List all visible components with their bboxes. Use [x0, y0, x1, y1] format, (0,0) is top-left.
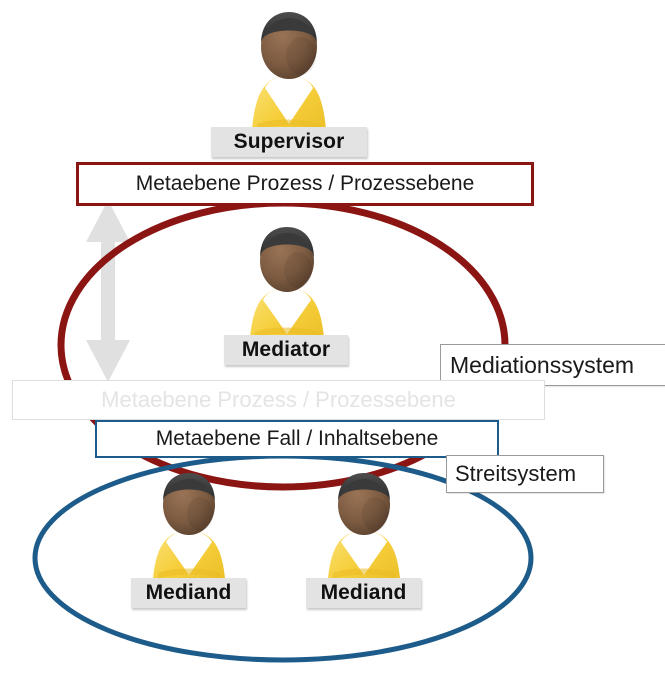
- avatar-supervisor: [243, 6, 335, 146]
- nameplate-mediand-1: Mediand: [131, 578, 246, 608]
- sysbox-dispute-system: Streitsystem: [446, 455, 604, 493]
- double-arrow-vertical-icon: [86, 200, 130, 382]
- nameplate-mediator-label: Mediator: [242, 338, 330, 362]
- nameplate-supervisor-label: Supervisor: [234, 130, 345, 154]
- nameplate-mediand-1-label: Mediand: [146, 581, 232, 605]
- level-box-content-label: Metaebene Fall / Inhaltsebene: [156, 427, 439, 451]
- nameplate-mediand-2-label: Mediand: [321, 581, 407, 605]
- person-icon: [241, 222, 333, 352]
- nameplate-supervisor: Supervisor: [211, 127, 367, 157]
- level-box-process-top-label: Metaebene Prozess / Prozessebene: [136, 172, 475, 196]
- avatar-mediator: [241, 222, 333, 352]
- level-box-content: Metaebene Fall / Inhaltsebene: [95, 420, 499, 458]
- avatar-mediand-2: [320, 468, 408, 592]
- level-box-process-faded-label: Metaebene Prozess / Prozessebene: [101, 387, 456, 413]
- sysbox-dispute-system-label: Streitsystem: [455, 461, 576, 487]
- person-icon: [320, 468, 408, 592]
- nameplate-mediator: Mediator: [224, 335, 348, 365]
- level-box-process-top: Metaebene Prozess / Prozessebene: [76, 162, 534, 206]
- level-box-process-faded: Metaebene Prozess / Prozessebene: [12, 380, 545, 420]
- person-icon: [145, 468, 233, 592]
- diagram-canvas: Supervisor Metaebene Prozess / Prozesseb…: [0, 0, 665, 674]
- person-icon: [243, 6, 335, 146]
- avatar-mediand-1: [145, 468, 233, 592]
- nameplate-mediand-2: Mediand: [306, 578, 421, 608]
- sysbox-mediation-system-label: Mediationssystem: [450, 352, 634, 379]
